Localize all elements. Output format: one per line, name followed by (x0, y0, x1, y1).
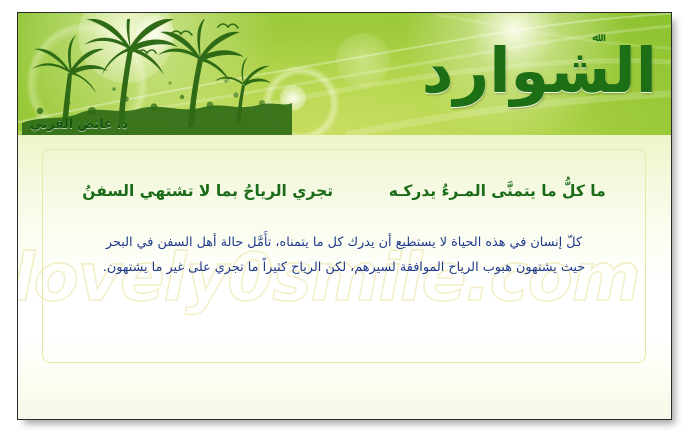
title-calligraphy: الشوارد (427, 17, 657, 125)
light-flare-icon (336, 33, 390, 87)
author-name: د. عائض القرني (30, 116, 128, 131)
quote-card: ما كلُّ ما يتمنَّى المـرءُ يدركـه تجري ا… (42, 149, 646, 363)
verse-line: ما كلُّ ما يتمنَّى المـرءُ يدركـه تجري ا… (69, 182, 619, 200)
framed-card: الشوارد ﷲ د. عائض القرني lovely0smile.co… (17, 12, 672, 420)
content-area: lovely0smile.com ما كلُّ ما يتمنَّى المـ… (18, 135, 671, 420)
title-diacritic: ﷲ (593, 31, 599, 44)
explanation-paragraph: كلّ إنسان في هذه الحياة لا يستطيع أن يدر… (99, 230, 589, 280)
verse-hemistich-left: تجري الرياحُ بما لا تشتهي السفنُ (82, 182, 333, 200)
header-banner: الشوارد ﷲ د. عائض القرني (18, 13, 671, 135)
verse-hemistich-right: ما كلُّ ما يتمنَّى المـرءُ يدركـه (389, 182, 606, 200)
banner-title: الشوارد ﷲ (427, 17, 657, 129)
image-canvas: الشوارد ﷲ د. عائض القرني lovely0smile.co… (0, 0, 692, 442)
